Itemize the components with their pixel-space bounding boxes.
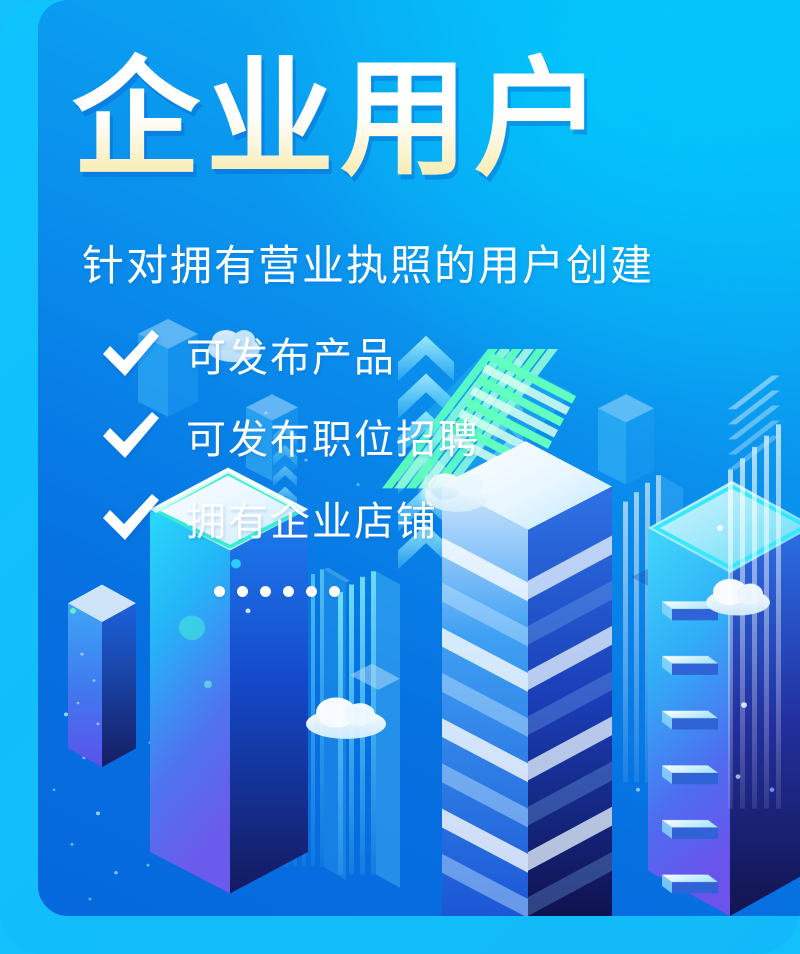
check-icon	[98, 491, 164, 545]
far-right-stripe-fan	[728, 375, 781, 808]
dot	[283, 586, 294, 597]
dot	[260, 586, 271, 597]
list-item: 可发布产品	[98, 318, 480, 390]
dot	[237, 586, 248, 597]
list-item: 拥有企业店铺	[98, 482, 480, 554]
list-item: 可发布职位招聘	[98, 400, 480, 472]
page-subtitle: 针对拥有营业执照的用户创建	[82, 232, 654, 293]
feature-label: 可发布产品	[186, 325, 396, 383]
ellipsis-dots	[214, 586, 340, 597]
check-icon	[98, 327, 164, 381]
feature-label: 可发布职位招聘	[186, 407, 480, 465]
feature-list: 可发布产品 可发布职位招聘 拥有企业店铺	[98, 318, 480, 564]
promo-banner: 企业用户 针对拥有营业执照的用户创建 可发布产品 可发布职位招聘	[0, 0, 800, 954]
small-left-tower	[68, 584, 136, 767]
feature-label: 拥有企业店铺	[186, 489, 438, 547]
promo-card: 企业用户 针对拥有营业执照的用户创建 可发布产品 可发布职位招聘	[38, 0, 800, 916]
dot	[329, 586, 340, 597]
mid-stripe-tower	[338, 571, 400, 887]
dot	[306, 586, 317, 597]
window-stripes-right	[528, 535, 612, 916]
page-title: 企业用户	[72, 48, 608, 191]
window-bars	[662, 601, 718, 893]
right-stripe-tower	[623, 475, 683, 795]
check-icon	[98, 409, 164, 463]
window-stripes-front	[442, 537, 528, 916]
right-window-bar-tower	[648, 481, 800, 916]
vertical-stripes-left	[284, 567, 350, 880]
dot	[214, 586, 225, 597]
